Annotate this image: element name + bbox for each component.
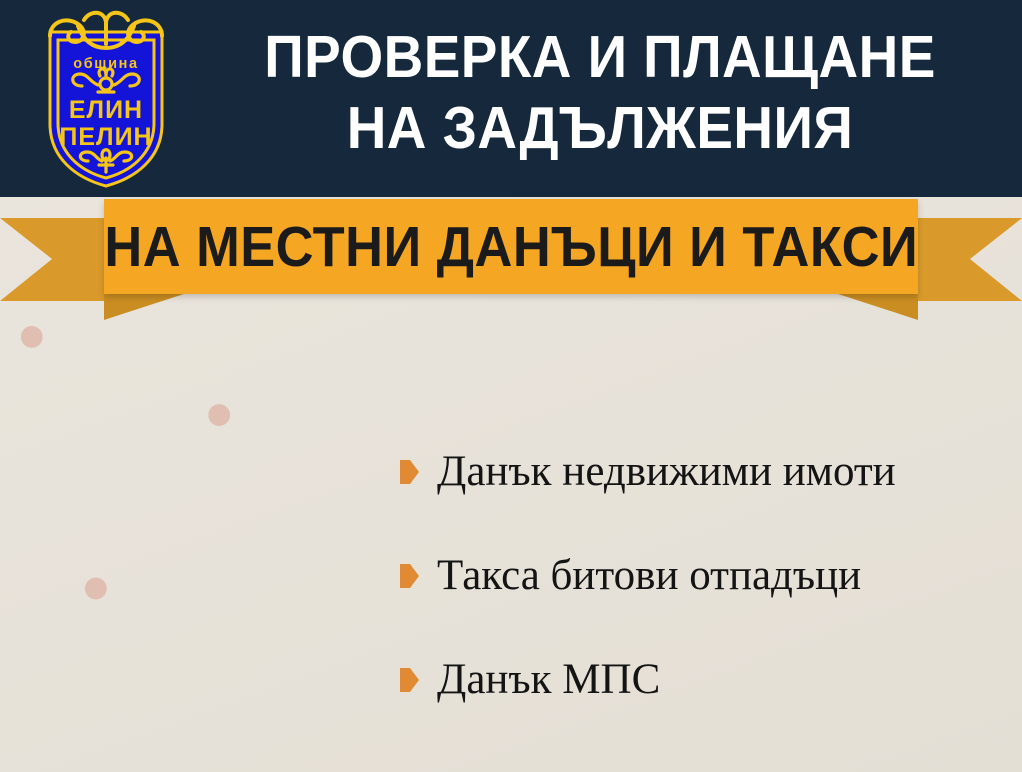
bullet-arrow-icon <box>400 564 419 588</box>
poster-root: община ЕЛИН ПЕЛИН <box>0 0 1022 772</box>
list-item-label: Данък недвижими имоти <box>437 448 896 496</box>
bullet-arrow-icon <box>400 460 419 484</box>
list-item[interactable]: Данък недвижими имоти <box>400 420 1000 524</box>
car-front-icon <box>139 571 292 713</box>
list-item[interactable]: Данък МПС <box>400 628 1000 732</box>
stamp-inner-car <box>110 536 322 748</box>
title-line-2: НА ЗАДЪЛЖЕНИЯ <box>219 93 982 164</box>
stamp-inner-house <box>44 334 209 499</box>
tax-type-list: Данък недвижими имоти Такса битови отпад… <box>400 420 1000 732</box>
house-icon <box>64 357 189 475</box>
page-title: ПРОВЕРКА И ПЛАЩАНЕ НА ЗАДЪЛЖЕНИЯ <box>190 22 1010 164</box>
ribbon-banner: НА МЕСТНИ ДАНЪЦИ И ТАКСИ <box>0 197 1022 315</box>
list-item-label: Данък МПС <box>437 656 660 704</box>
coat-of-arms-icon: община ЕЛИН ПЕЛИН <box>22 6 190 191</box>
ribbon-main-bar: НА МЕСТНИ ДАНЪЦИ И ТАКСИ <box>104 199 918 294</box>
title-line-1: ПРОВЕРКА И ПЛАЩАНЕ <box>219 22 982 93</box>
ribbon-label: НА МЕСТНИ ДАНЪЦИ И ТАКСИ <box>104 217 918 277</box>
ribbon-fold-right <box>832 292 918 320</box>
crest-label-elin: ЕЛИН <box>69 96 143 124</box>
crest-label-pelin: ПЕЛИН <box>59 123 152 151</box>
stamp-card-house <box>20 310 232 522</box>
bullet-arrow-icon <box>400 668 419 692</box>
list-item-label: Такса битови отпадъци <box>437 552 861 600</box>
list-item[interactable]: Такса битови отпадъци <box>400 524 1000 628</box>
coat-of-arms: община ЕЛИН ПЕЛИН <box>22 6 190 191</box>
